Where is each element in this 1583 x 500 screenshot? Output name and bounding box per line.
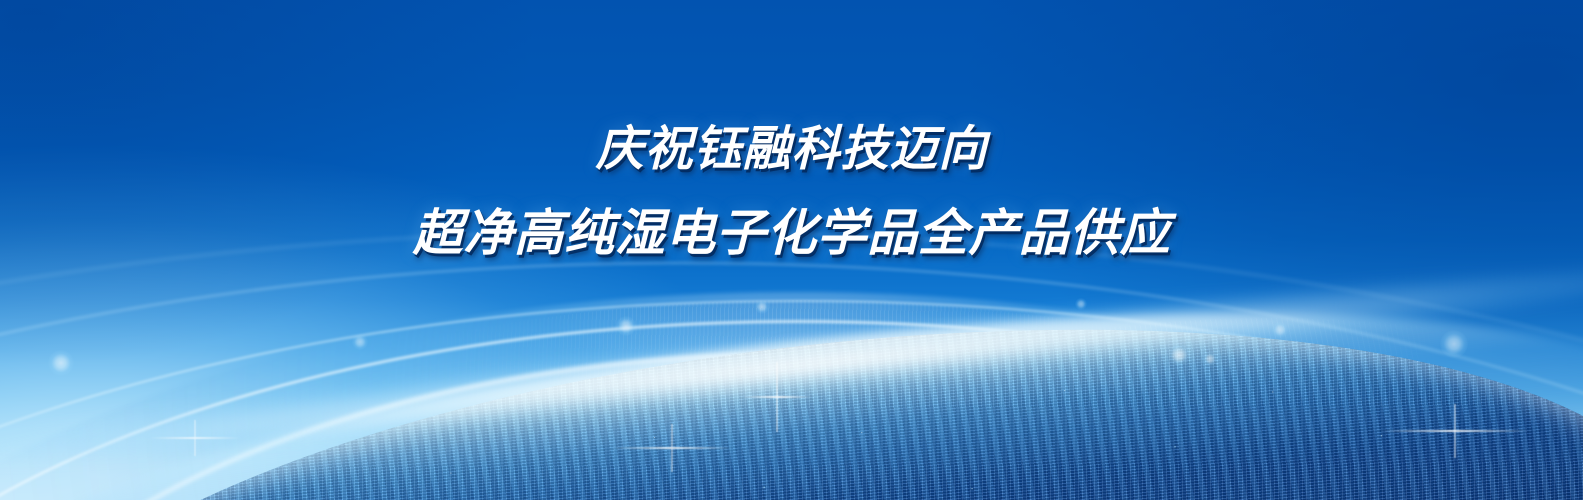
headline-block: 庆祝钰融科技迈向 超净高纯湿电子化学品全产品供应 bbox=[0, 118, 1583, 268]
cityscape-region bbox=[0, 250, 1583, 500]
headline-line-2: 超净高纯湿电子化学品全产品供应 bbox=[0, 198, 1583, 268]
headline-line-1: 庆祝钰融科技迈向 bbox=[0, 118, 1583, 180]
hero-banner: 庆祝钰融科技迈向 超净高纯湿电子化学品全产品供应 bbox=[0, 0, 1583, 500]
